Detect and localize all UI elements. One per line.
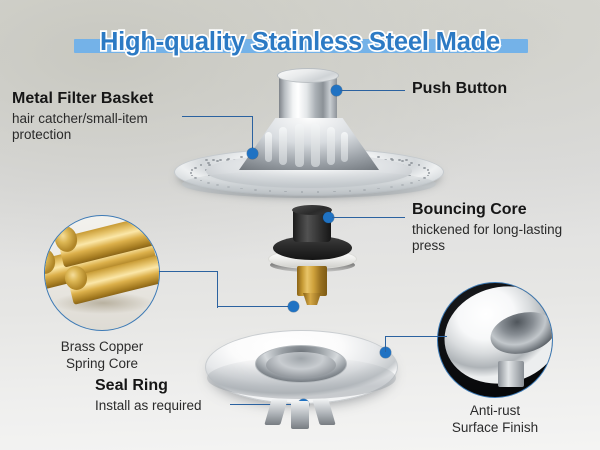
filter-basket-slot (327, 127, 335, 165)
metal-filter-basket-subtitle-line1: hair catcher/small-item (12, 111, 212, 127)
filter-basket-slot (295, 124, 304, 167)
dot-brass-spring-core (288, 301, 299, 312)
seal-ring-opening-inner (266, 352, 336, 378)
filter-basket-cone (239, 118, 379, 170)
seal-ring-clip (291, 401, 309, 429)
bouncing-core-subtitle-line1: thickened for long-lasting (412, 222, 598, 238)
filter-basket-perforation (405, 159, 408, 161)
filter-basket-perforation (191, 175, 194, 177)
filter-basket-slot (341, 132, 348, 162)
filter-basket-perforation (194, 167, 197, 169)
filter-basket-perforation (418, 164, 421, 166)
antirust-caption-line1: Anti-rust (431, 403, 559, 420)
connector-brass-horizontal-lower (217, 306, 293, 307)
seal-ring-clip (312, 399, 335, 425)
connector-brass-horizontal-upper (152, 271, 218, 272)
connector-metal-filter-basket-horizontal (182, 116, 253, 117)
connector-bouncing-core (332, 217, 405, 218)
filter-basket-perforation (205, 159, 208, 161)
filter-basket-perforation (398, 159, 401, 161)
antirust-inset-caption: Anti-rust Surface Finish (431, 403, 559, 436)
filter-basket-perforation (427, 175, 430, 177)
callout-seal-ring: Seal Ring Install as required (95, 377, 295, 414)
filter-basket-perforation (219, 159, 222, 161)
bouncing-core-title: Bouncing Core (412, 201, 598, 219)
filter-basket-perforation (427, 169, 430, 171)
filter-basket-perforation (428, 172, 431, 174)
antirust-caption-line2: Surface Finish (431, 420, 559, 437)
brass-caption-line2: Spring Core (38, 356, 166, 373)
bouncing-core-subtitle-line2: press (412, 238, 598, 254)
filter-basket-perforation (200, 164, 203, 166)
connector-antirust-vertical (385, 336, 386, 352)
connector-brass-vertical (217, 271, 218, 308)
seal-ring-title: Seal Ring (95, 377, 295, 395)
callout-bouncing-core: Bouncing Core thickened for long-lasting… (412, 201, 598, 254)
brass-inset-caption: Brass Copper Spring Core (38, 339, 166, 372)
filter-basket-perforation (401, 160, 404, 162)
antirust-stem (498, 361, 524, 387)
filter-basket-slot (279, 127, 287, 165)
core-brass-stem (297, 266, 327, 296)
filter-basket-perforation (212, 159, 215, 161)
metal-filter-basket-subtitle-line2: protection (12, 127, 212, 143)
metal-filter-basket-title: Metal Filter Basket (12, 90, 212, 108)
dot-metal-filter-basket (247, 148, 258, 159)
push-button-title: Push Button (412, 80, 592, 98)
core-brass-tip (303, 293, 321, 305)
filter-basket-perforation (191, 169, 194, 171)
filter-basket-slot (311, 124, 320, 167)
filter-basket-lip (182, 170, 436, 198)
filter-basket-perforation (423, 167, 426, 169)
connector-push-button (340, 90, 405, 91)
seal-ring-subtitle-line1: Install as required (95, 398, 295, 414)
antirust-inset-photo (437, 282, 553, 398)
infographic-canvas: High-quality Stainless Steel Made Brass … (0, 0, 600, 450)
callout-push-button: Push Button (412, 80, 592, 98)
filter-basket-perforation (190, 172, 193, 174)
title-text: High-quality Stainless Steel Made (100, 28, 500, 57)
filter-basket-slot (265, 132, 272, 162)
brass-copper-inset-photo (44, 215, 160, 331)
page-title: High-quality Stainless Steel Made (0, 22, 600, 62)
brass-caption-line1: Brass Copper (38, 339, 166, 356)
connector-antirust-horizontal (385, 336, 447, 337)
push-button-top-face (277, 68, 339, 83)
